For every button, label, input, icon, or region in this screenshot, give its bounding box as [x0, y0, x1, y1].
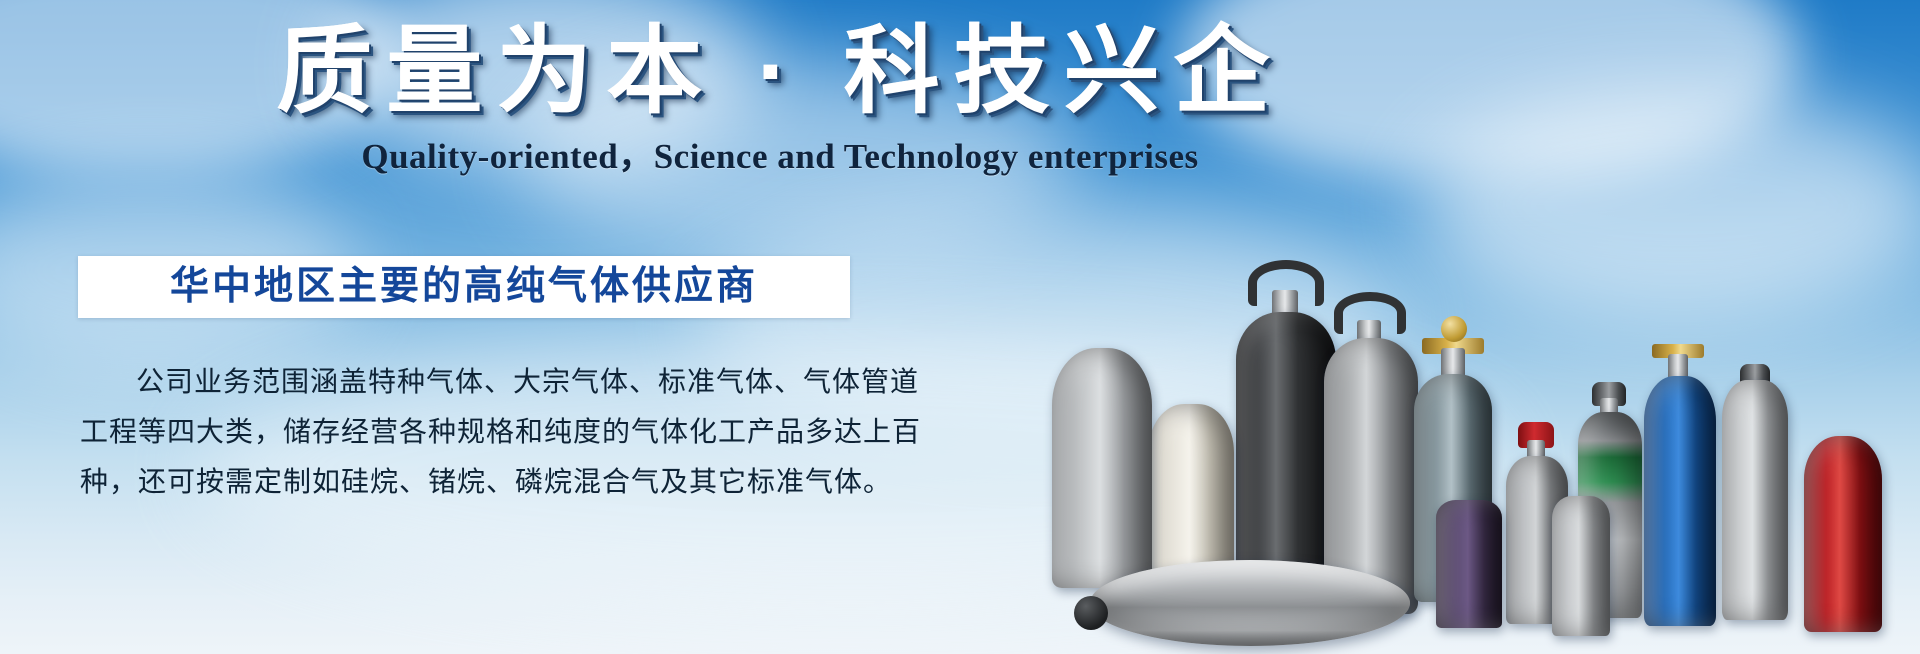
- body-line-3: 种，还可按需定制如硅烷、锗烷、磷烷混合气及其它标准气体。: [80, 458, 870, 508]
- horizontal-tank: [1090, 560, 1410, 646]
- body-line-1: 公司业务范围涵盖特种气体、大宗气体、标准气体、气体管道: [80, 358, 870, 408]
- teal-cylinder-knob: [1441, 316, 1467, 342]
- highlight-box: 华中地区主要的高纯气体供应商: [78, 256, 850, 318]
- blue-cylinder: [1644, 376, 1716, 626]
- headline-container: 质量为本 · 科技兴企: [0, 18, 1560, 126]
- gas-cylinder-array: [1200, 134, 1920, 654]
- body-line-2: 工程等四大类，储存经营各种规格和纯度的气体化工产品多达上百: [80, 408, 870, 458]
- horizontal-tank-valve: [1074, 596, 1108, 630]
- purple-bottle: [1436, 500, 1502, 628]
- red-cylinder: [1804, 436, 1882, 632]
- highlight-box-text: 华中地区主要的高纯气体供应商: [78, 256, 850, 318]
- body-paragraph: 公司业务范围涵盖特种气体、大宗气体、标准气体、气体管道 工程等四大类，储存经营各…: [80, 358, 870, 508]
- light-grey-cylinder: [1052, 348, 1152, 588]
- aluminium-cylinder: [1722, 380, 1788, 620]
- promotional-banner: 质量为本 · 科技兴企 Quality-oriented，Science and…: [0, 0, 1920, 654]
- headline-chinese: 质量为本 · 科技兴企: [276, 18, 1283, 126]
- small-aluminium-cylinder: [1552, 496, 1610, 636]
